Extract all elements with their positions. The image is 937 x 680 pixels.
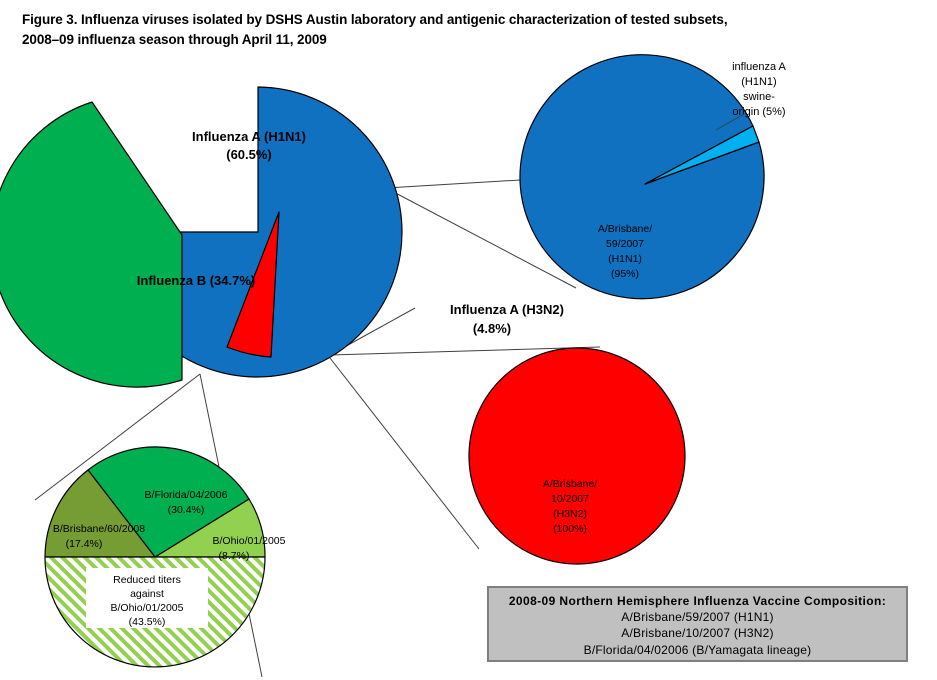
label-reduced-titers-line4: (43.5%) bbox=[129, 616, 166, 628]
label-a-brisbane-59-line1: A/Brisbane/ bbox=[598, 223, 652, 235]
label-b-brisbane-line1: B/Brisbane/60/2008 bbox=[53, 523, 145, 535]
label-influenza-a-h1n1-line1: Influenza A (H1N1) bbox=[192, 129, 306, 144]
vaccine-box-line-1: A/Brisbane/59/2007 (H1N1) bbox=[489, 609, 906, 625]
subpie-slice-a-brisbane-59-2007[interactable] bbox=[520, 55, 764, 299]
main-slice-influenza-b[interactable] bbox=[0, 102, 182, 387]
label-a-brisbane-59-line2: 59/2007 bbox=[606, 238, 644, 250]
vaccine-box-title: 2008-09 Northern Hemisphere Influenza Va… bbox=[489, 593, 906, 609]
vaccine-box-line-2: A/Brisbane/10/2007 (H3N2) bbox=[489, 625, 906, 641]
label-a-brisbane-59-line4: (95%) bbox=[611, 268, 639, 280]
label-a-brisbane-10-line1: A/Brisbane/ bbox=[543, 478, 597, 490]
label-b-ohio-line2: (8.7%) bbox=[219, 550, 250, 562]
label-b-florida-line1: B/Florida/04/2006 bbox=[145, 489, 228, 501]
h1n1-subtype-pie-group: influenza A (H1N1) swine- origin (5%) A/… bbox=[520, 55, 787, 299]
label-influenza-a-h3n2-line2: (4.8%) bbox=[473, 321, 511, 336]
label-influenza-b: Influenza B (34.7%) bbox=[137, 273, 255, 288]
label-reduced-titers-line2: against bbox=[130, 588, 164, 600]
label-b-florida-line2: (30.4%) bbox=[168, 504, 205, 516]
label-reduced-titers-line3: B/Ohio/01/2005 bbox=[111, 602, 184, 614]
label-swine-origin-line2: (H1N1) bbox=[741, 76, 776, 88]
influenza-b-subtype-pie-group: B/Florida/04/2006 (30.4%) B/Brisbane/60/… bbox=[45, 447, 286, 667]
label-b-ohio-line1: B/Ohio/01/2005 bbox=[213, 535, 286, 547]
figure-container: Figure 3. Influenza viruses isolated by … bbox=[0, 0, 937, 680]
label-swine-origin-line3: swine- bbox=[743, 91, 775, 103]
h3n2-subtype-pie-group: A/Brisbane/ 10/2007 (H3N2) (100%) bbox=[469, 348, 685, 564]
vaccine-composition-box: 2008-09 Northern Hemisphere Influenza Va… bbox=[487, 586, 908, 662]
label-a-brisbane-59-line3: (H1N1) bbox=[608, 253, 642, 265]
label-swine-origin-line1: influenza A bbox=[732, 61, 786, 73]
label-b-brisbane-line2: (17.4%) bbox=[66, 538, 103, 550]
chart-canvas: Influenza A (H1N1) (60.5%) Influenza B (… bbox=[0, 0, 937, 680]
label-influenza-a-h3n2-line1: Influenza A (H3N2) bbox=[450, 302, 564, 317]
label-a-brisbane-10-line2: 10/2007 bbox=[551, 493, 589, 505]
label-reduced-titers-line1: Reduced titers bbox=[113, 574, 181, 586]
leader-line-h3n2-lower bbox=[330, 358, 479, 549]
label-a-brisbane-10-line3: (H3N2) bbox=[553, 508, 587, 520]
label-influenza-a-h1n1-line2: (60.5%) bbox=[226, 147, 272, 162]
label-a-brisbane-10-line4: (100%) bbox=[553, 523, 587, 535]
vaccine-box-line-3: B/Florida/04/02006 (B/Yamagata lineage) bbox=[489, 642, 906, 658]
